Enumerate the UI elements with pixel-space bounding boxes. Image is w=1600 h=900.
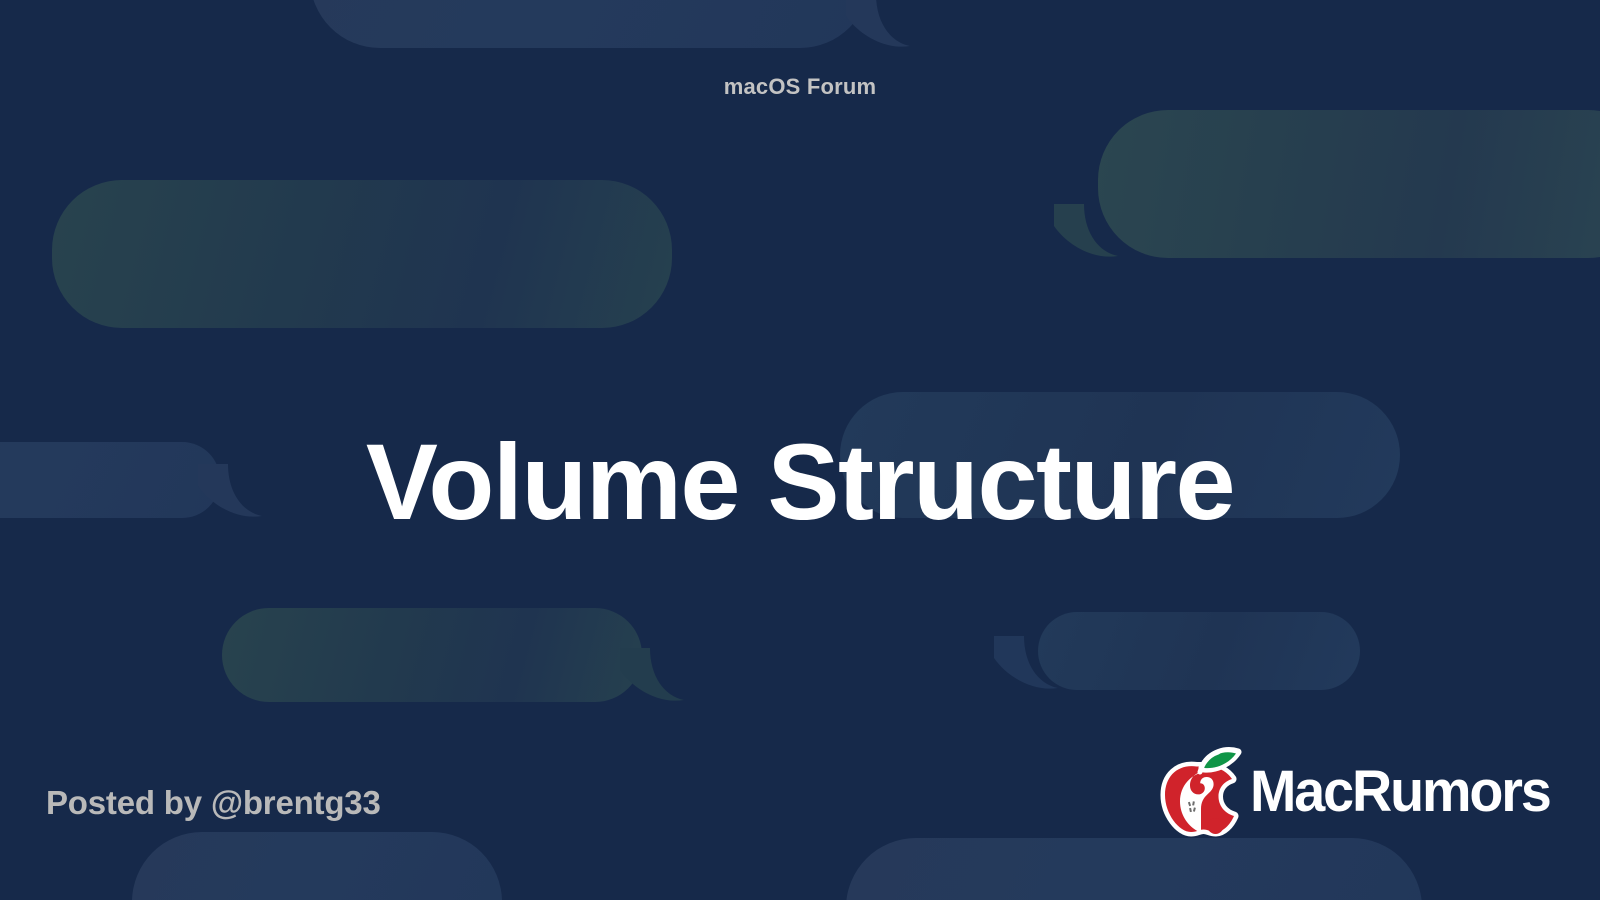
bubble-body bbox=[52, 180, 672, 328]
bubble-tail bbox=[620, 648, 684, 702]
forum-label: macOS Forum bbox=[0, 74, 1600, 100]
bubble-lower-right bbox=[1038, 612, 1360, 690]
macrumors-apple-icon bbox=[1160, 746, 1246, 838]
bubble-body bbox=[1038, 612, 1360, 690]
apple-dot bbox=[1207, 818, 1223, 834]
bubble-top-right bbox=[1098, 110, 1600, 258]
bubble-body bbox=[1098, 110, 1600, 258]
bubble-tail-shape bbox=[1054, 204, 1118, 258]
bubble-body bbox=[132, 832, 502, 900]
page-title: Volume Structure bbox=[90, 424, 1510, 541]
bubble-upper-left bbox=[52, 180, 672, 328]
bubble-top-center bbox=[310, 0, 870, 48]
posted-by-label: Posted by @brentg33 bbox=[46, 784, 381, 822]
bubble-body bbox=[310, 0, 870, 48]
bubble-bottom-left bbox=[132, 832, 502, 900]
bubble-tail-shape bbox=[620, 648, 684, 702]
macrumors-wordmark: MacRumors bbox=[1250, 763, 1550, 821]
bubble-tail bbox=[1054, 204, 1118, 258]
bubble-tail-shape bbox=[994, 636, 1058, 690]
og-share-card: macOS Forum Volume Structure Posted by @… bbox=[0, 0, 1600, 900]
bubble-tail-shape bbox=[846, 0, 910, 48]
bubble-tail bbox=[994, 636, 1058, 690]
macrumors-logo: MacRumors bbox=[1160, 746, 1562, 838]
bubble-body bbox=[846, 838, 1422, 900]
bubble-tail bbox=[846, 0, 910, 48]
bubble-bottom-right bbox=[846, 838, 1422, 900]
bubble-body bbox=[222, 608, 642, 702]
bubble-lower-left bbox=[222, 608, 642, 702]
